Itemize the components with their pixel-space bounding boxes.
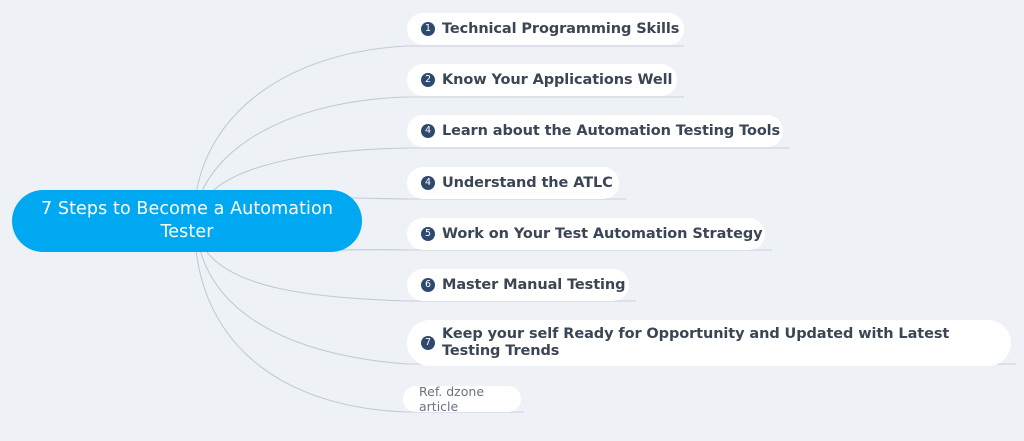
mindmap-canvas: 7 Steps to Become a Automation Tester 1 … (0, 0, 1024, 441)
branch-node-label: Work on Your Test Automation Strategy (442, 226, 762, 243)
branch-node-label: Understand the ATLC (442, 175, 613, 192)
branch-node-label: Learn about the Automation Testing Tools (442, 123, 780, 140)
circled-number-icon: 4 (421, 176, 435, 190)
branch-node-label: Keep your self Ready for Opportunity and… (442, 326, 993, 360)
branch-node-label: Technical Programming Skills (442, 21, 679, 38)
reference-node[interactable]: Ref. dzone article (403, 386, 521, 412)
branch-node-label: Know Your Applications Well (442, 72, 672, 89)
circled-number-icon: 1 (421, 22, 435, 36)
root-node[interactable]: 7 Steps to Become a Automation Tester (12, 190, 362, 252)
branch-node-2[interactable]: 2 Know Your Applications Well (407, 64, 677, 96)
branch-node-1[interactable]: 1 Technical Programming Skills (407, 13, 684, 45)
branch-node-4[interactable]: 4 Understand the ATLC (407, 167, 619, 199)
circled-number-icon: 5 (421, 227, 435, 241)
circled-number-icon: 7 (421, 336, 435, 350)
branch-node-label: Master Manual Testing (442, 277, 625, 294)
circled-number-icon: 4 (421, 124, 435, 138)
circled-number-icon: 2 (421, 73, 435, 87)
connector-curve-7 (200, 250, 407, 364)
connector-curve-6 (204, 248, 407, 301)
connector-curve-2 (200, 97, 407, 196)
branch-node-6[interactable]: 6 Master Manual Testing (407, 269, 629, 301)
branch-node-5[interactable]: 5 Work on Your Test Automation Strategy (407, 218, 765, 250)
root-node-label: 7 Steps to Become a Automation Tester (34, 198, 340, 244)
branch-node-7[interactable]: 7 Keep your self Ready for Opportunity a… (407, 320, 1011, 366)
connector-curve-8 (196, 250, 407, 412)
circled-number-icon: 6 (421, 278, 435, 292)
reference-node-label: Ref. dzone article (419, 384, 505, 414)
branch-node-3[interactable]: 4 Learn about the Automation Testing Too… (407, 115, 783, 147)
connector-curve-1 (196, 46, 407, 194)
